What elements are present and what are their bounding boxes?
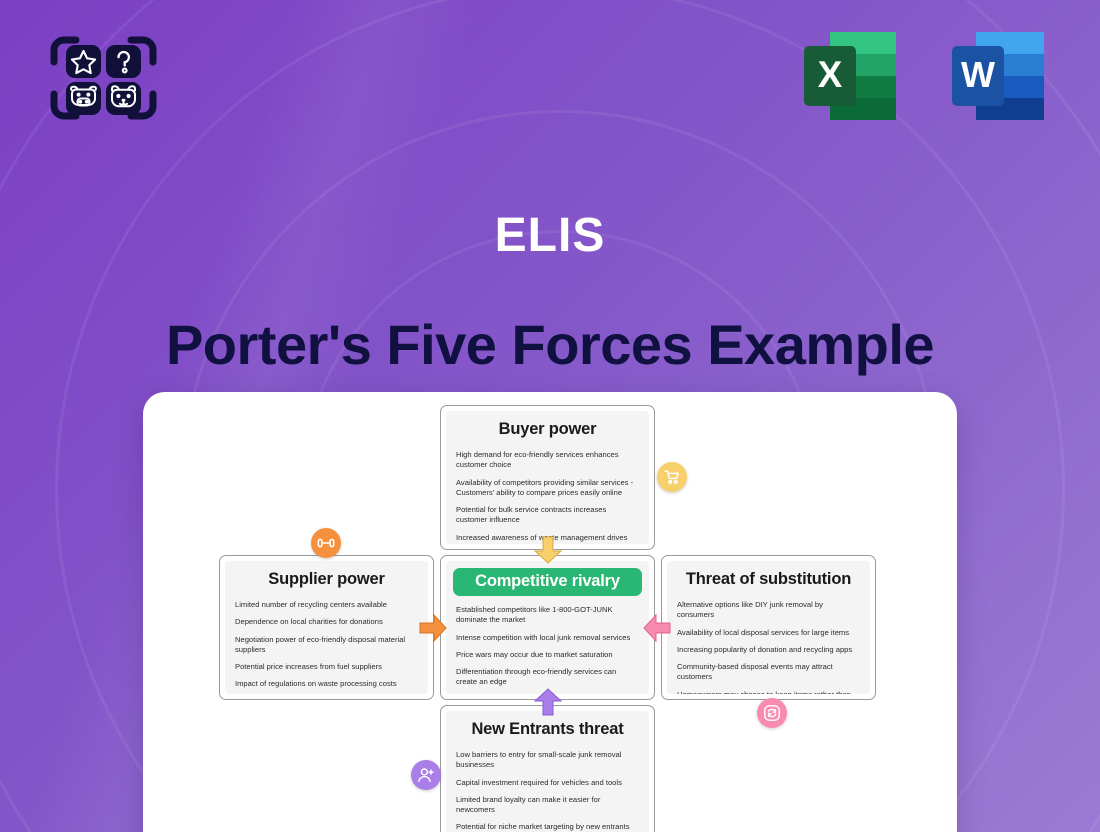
- force-point: Potential for niche market targeting by …: [456, 822, 639, 832]
- force-box-supplier[interactable]: Supplier power Limited number of recycli…: [219, 555, 434, 700]
- porters-five-forces-diagram: Buyer power High demand for eco-friendly…: [143, 392, 957, 832]
- force-point: Established competitors like 1-800-GOT-J…: [456, 605, 639, 626]
- force-point: Impact of regulations on waste processin…: [235, 679, 418, 689]
- force-point: Increasing popularity of donation and re…: [677, 645, 860, 655]
- entrants-to-rivalry-arrow: [533, 688, 563, 716]
- force-points-substitution: Alternative options like DIY junk remova…: [677, 600, 860, 694]
- force-point: Differentiation through eco-friendly ser…: [456, 667, 639, 688]
- brand-title: ELIS: [0, 208, 1100, 263]
- force-point: Availability of local disposal services …: [677, 628, 860, 638]
- force-points-rivalry: Established competitors like 1-800-GOT-J…: [456, 605, 639, 694]
- elis-logo[interactable]: [46, 28, 161, 128]
- shopping-cart-icon: [663, 468, 681, 486]
- slide-canvas: X W ELIS Porter's Five Forces Example Bu…: [0, 0, 1100, 832]
- force-point: High demand for eco-friendly services en…: [456, 450, 639, 471]
- excel-icon[interactable]: X: [800, 28, 900, 124]
- dumbbell-icon: [317, 534, 335, 552]
- substitution-to-rivalry-arrow: [643, 613, 671, 643]
- force-points-new-entrants: Low barriers to entry for small-scale ju…: [456, 750, 639, 832]
- force-box-new-entrants[interactable]: New Entrants threat Low barriers to entr…: [440, 705, 655, 832]
- force-title-rivalry: Competitive rivalry: [453, 568, 642, 596]
- force-point: Negotiation power of eco-friendly dispos…: [235, 635, 418, 656]
- force-point: Price wars may occur due to market satur…: [456, 650, 639, 660]
- force-title-new-entrants: New Entrants threat: [456, 720, 639, 739]
- force-point: Low barriers to entry for small-scale ju…: [456, 750, 639, 771]
- supplier-badge-icon[interactable]: [311, 528, 341, 558]
- refresh-icon: [763, 704, 781, 722]
- force-title-buyer: Buyer power: [456, 420, 639, 439]
- supplier-to-rivalry-arrow: [419, 613, 447, 643]
- force-point: Community-based disposal events may attr…: [677, 662, 860, 683]
- page-title: Porter's Five Forces Example: [0, 312, 1100, 377]
- excel-icon-letter: X: [818, 54, 843, 95]
- entrants-badge-icon[interactable]: [411, 760, 441, 790]
- force-point: Alternative options like DIY junk remova…: [677, 600, 860, 621]
- force-point: Potential for bulk service contracts inc…: [456, 505, 639, 526]
- force-point: Limited number of recycling centers avai…: [235, 600, 418, 610]
- word-icon-letter: W: [961, 54, 995, 95]
- diagram-card: Buyer power High demand for eco-friendly…: [143, 392, 957, 832]
- force-point: Homeowners may choose to keep items rath…: [677, 690, 860, 695]
- force-points-supplier: Limited number of recycling centers avai…: [235, 600, 418, 690]
- force-point: Intense competition with local junk remo…: [456, 633, 639, 643]
- force-point: Availability of competitors providing si…: [456, 478, 639, 499]
- export-icons-group: X W: [800, 28, 1048, 124]
- word-icon[interactable]: W: [948, 28, 1048, 124]
- force-point: Potential price increases from fuel supp…: [235, 662, 418, 672]
- add-person-icon: [417, 766, 435, 784]
- force-point: Limited brand loyalty can make it easier…: [456, 795, 639, 816]
- force-title-supplier: Supplier power: [235, 570, 418, 589]
- buyer-to-rivalry-arrow: [533, 536, 563, 564]
- force-title-substitution: Threat of substitution: [677, 570, 860, 589]
- substitution-badge-icon[interactable]: [757, 698, 787, 728]
- buyer-badge-icon[interactable]: [657, 462, 687, 492]
- force-point: Capital investment required for vehicles…: [456, 778, 639, 788]
- force-box-buyer[interactable]: Buyer power High demand for eco-friendly…: [440, 405, 655, 550]
- force-box-substitution[interactable]: Threat of substitution Alternative optio…: [661, 555, 876, 700]
- force-point: Dependence on local charities for donati…: [235, 617, 418, 627]
- force-points-buyer: High demand for eco-friendly services en…: [456, 450, 639, 544]
- force-box-rivalry[interactable]: Competitive rivalry Established competit…: [440, 555, 655, 700]
